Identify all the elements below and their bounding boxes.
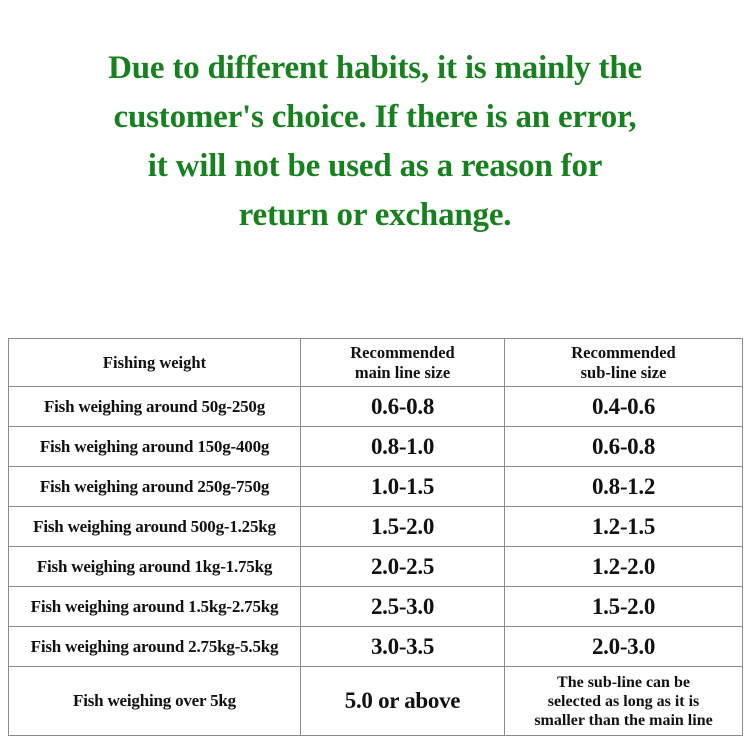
cell-main-line-size: 0.8-1.0 <box>301 427 505 467</box>
table-row: Fish weighing over 5kg 5.0 or above The … <box>9 667 743 736</box>
cell-fishing-weight: Fish weighing around 1kg-1.75kg <box>9 547 301 587</box>
header-sub-line-1: Recommended <box>509 343 738 363</box>
table-row: Fish weighing around 500g-1.25kg 1.5-2.0… <box>9 507 743 547</box>
notice-line-3: it will not be used as a reason for <box>0 142 750 191</box>
sub-line-note-1: The sub-line can be <box>509 673 738 692</box>
header-main-line-1: Recommended <box>305 343 500 363</box>
cell-main-line-size: 1.5-2.0 <box>301 507 505 547</box>
notice-line-1: Due to different habits, it is mainly th… <box>0 44 750 93</box>
cell-sub-line-size: 0.4-0.6 <box>505 387 743 427</box>
table-row: Fish weighing around 250g-750g 1.0-1.5 0… <box>9 467 743 507</box>
line-size-table: Fishing weight Recommended main line siz… <box>8 338 743 736</box>
cell-sub-line-size: 1.2-1.5 <box>505 507 743 547</box>
header-main-line-2: main line size <box>305 363 500 383</box>
cell-fishing-weight: Fish weighing over 5kg <box>9 667 301 736</box>
cell-sub-line-size: 0.6-0.8 <box>505 427 743 467</box>
table-row: Fish weighing around 1.5kg-2.75kg 2.5-3.… <box>9 587 743 627</box>
sub-line-note-2: selected as long as it is <box>509 692 738 711</box>
cell-fishing-weight: Fish weighing around 150g-400g <box>9 427 301 467</box>
table-row: Fish weighing around 2.75kg-5.5kg 3.0-3.… <box>9 627 743 667</box>
cell-main-line-size: 1.0-1.5 <box>301 467 505 507</box>
table-row: Fish weighing around 50g-250g 0.6-0.8 0.… <box>9 387 743 427</box>
cell-fishing-weight: Fish weighing around 50g-250g <box>9 387 301 427</box>
cell-sub-line-size: 1.5-2.0 <box>505 587 743 627</box>
cell-main-line-size: 5.0 or above <box>301 667 505 736</box>
cell-fishing-weight: Fish weighing around 500g-1.25kg <box>9 507 301 547</box>
sub-line-note-3: smaller than the main line <box>509 711 738 730</box>
cell-fishing-weight: Fish weighing around 1.5kg-2.75kg <box>9 587 301 627</box>
cell-fishing-weight: Fish weighing around 2.75kg-5.5kg <box>9 627 301 667</box>
header-fishing-weight: Fishing weight <box>9 339 301 387</box>
return-policy-notice: Due to different habits, it is mainly th… <box>0 44 750 240</box>
cell-fishing-weight: Fish weighing around 250g-750g <box>9 467 301 507</box>
header-sub-line-size: Recommended sub-line size <box>505 339 743 387</box>
cell-main-line-size: 0.6-0.8 <box>301 387 505 427</box>
cell-main-line-size: 2.5-3.0 <box>301 587 505 627</box>
header-main-line-size: Recommended main line size <box>301 339 505 387</box>
notice-line-2: customer's choice. If there is an error, <box>0 93 750 142</box>
cell-sub-line-size: 2.0-3.0 <box>505 627 743 667</box>
cell-main-line-size: 2.0-2.5 <box>301 547 505 587</box>
notice-line-4: return or exchange. <box>0 191 750 240</box>
product-info-page: Due to different habits, it is mainly th… <box>0 0 750 750</box>
cell-sub-line-size: 0.8-1.2 <box>505 467 743 507</box>
cell-sub-line-size: 1.2-2.0 <box>505 547 743 587</box>
cell-main-line-size: 3.0-3.5 <box>301 627 505 667</box>
table-row: Fish weighing around 150g-400g 0.8-1.0 0… <box>9 427 743 467</box>
table-row: Fish weighing around 1kg-1.75kg 2.0-2.5 … <box>9 547 743 587</box>
table-header-row: Fishing weight Recommended main line siz… <box>9 339 743 387</box>
cell-sub-line-note: The sub-line can be selected as long as … <box>505 667 743 736</box>
header-sub-line-2: sub-line size <box>509 363 738 383</box>
